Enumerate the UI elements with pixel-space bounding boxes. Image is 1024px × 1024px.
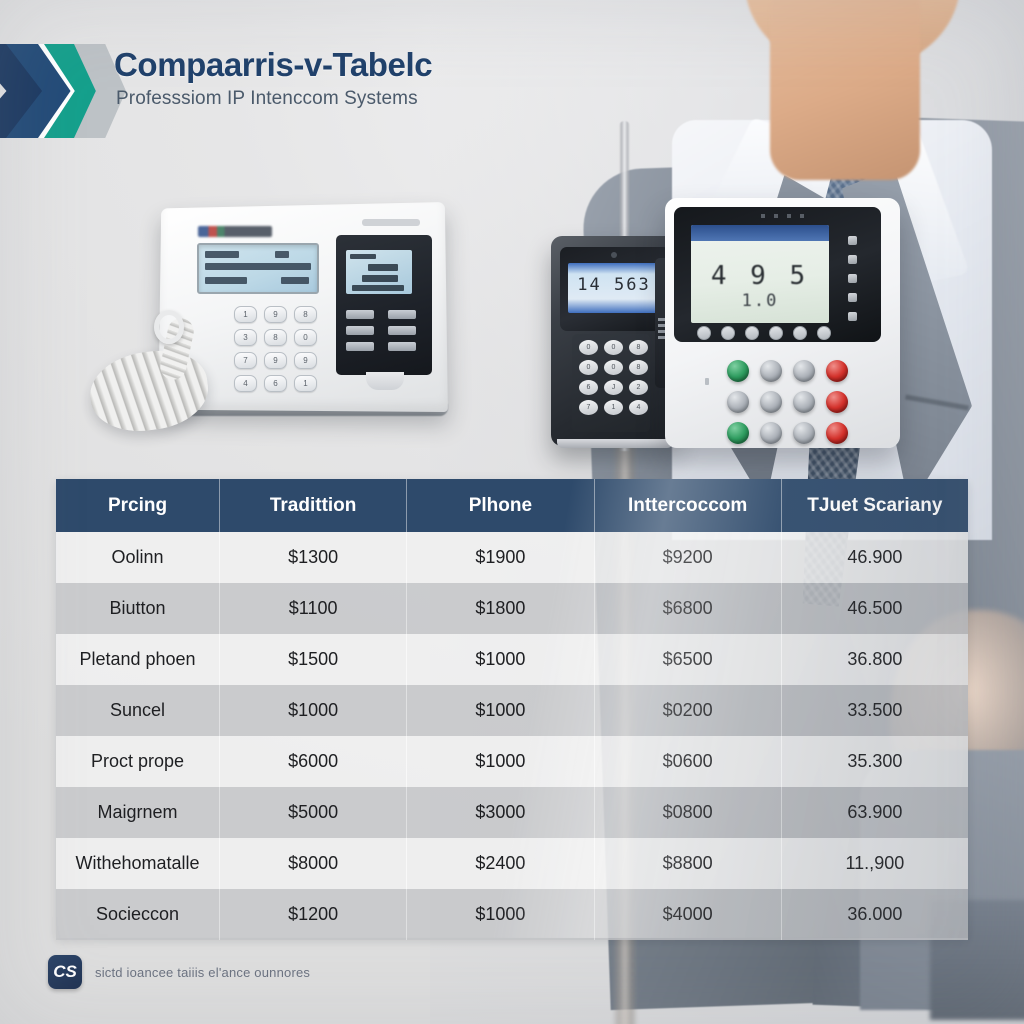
video-station-key[interactable] bbox=[793, 391, 815, 413]
table-row: Proct prope $6000 $1000 $0600 35.300 bbox=[56, 736, 968, 787]
wall-intercom-key[interactable]: 7 bbox=[579, 400, 598, 415]
row-value: $0800 bbox=[595, 787, 782, 838]
row-value: 35.300 bbox=[782, 736, 968, 787]
desk-phone-key[interactable]: 6 bbox=[264, 375, 287, 392]
device-white-desk-phone: 1 9 8 3 8 0 7 9 9 4 6 1 bbox=[84, 198, 452, 438]
row-value: $1000 bbox=[407, 736, 594, 787]
desk-phone-top-slot bbox=[362, 219, 420, 226]
row-label: Suncel bbox=[56, 685, 220, 736]
desk-phone-keypad[interactable]: 1 9 8 3 8 0 7 9 9 4 6 1 bbox=[234, 306, 317, 392]
desk-phone-side-button[interactable] bbox=[346, 342, 374, 351]
row-value: $0200 bbox=[595, 685, 782, 736]
desk-phone-key[interactable]: 9 bbox=[264, 306, 287, 323]
row-value: $1300 bbox=[220, 532, 407, 583]
row-value: $3000 bbox=[407, 787, 594, 838]
led-indicator-icon bbox=[848, 274, 857, 283]
video-station-softkey[interactable] bbox=[697, 326, 711, 340]
row-value: $1000 bbox=[407, 889, 594, 940]
row-value: 46.900 bbox=[782, 532, 968, 583]
speaker-grille-icon bbox=[761, 214, 813, 218]
desk-phone-notch bbox=[366, 372, 404, 390]
video-station-led-indicators bbox=[848, 236, 857, 321]
row-value: 63.900 bbox=[782, 787, 968, 838]
led-indicator-icon bbox=[848, 312, 857, 321]
desk-phone-key[interactable]: 0 bbox=[294, 329, 317, 346]
row-value: $6500 bbox=[595, 634, 782, 685]
video-station-softkey[interactable] bbox=[745, 326, 759, 340]
video-station-softkey[interactable] bbox=[817, 326, 831, 340]
table-row: Suncel $1000 $1000 $0200 33.500 bbox=[56, 685, 968, 736]
desk-phone-key[interactable]: 9 bbox=[264, 352, 287, 369]
wall-intercom-key[interactable]: 8 bbox=[629, 360, 648, 375]
wall-intercom-key[interactable]: 0 bbox=[579, 360, 598, 375]
row-label: Oolinn bbox=[56, 532, 220, 583]
desk-phone-key[interactable]: 4 bbox=[234, 375, 257, 392]
row-value: $0600 bbox=[595, 736, 782, 787]
column-header-scenario: TJuet Scariany bbox=[782, 479, 968, 532]
wall-intercom-key[interactable]: 2 bbox=[629, 380, 648, 395]
row-value: $1000 bbox=[220, 685, 407, 736]
table-row: Oolinn $1300 $1900 $9200 46.900 bbox=[56, 532, 968, 583]
desk-phone-side-button[interactable] bbox=[388, 326, 416, 335]
led-indicator-icon bbox=[848, 255, 857, 264]
wall-intercom-key[interactable]: J bbox=[604, 380, 623, 395]
video-station-display-sub: 1.0 bbox=[691, 291, 829, 311]
desk-phone-side-buttons[interactable] bbox=[346, 310, 416, 351]
video-station-softkey[interactable] bbox=[721, 326, 735, 340]
video-station-key-end[interactable] bbox=[826, 360, 848, 382]
row-value: $1100 bbox=[220, 583, 407, 634]
row-label: Biutton bbox=[56, 583, 220, 634]
device-white-video-station: 4 9 5 1.0 bbox=[665, 198, 900, 448]
cs-badge-icon: CS bbox=[48, 955, 82, 989]
video-station-key-call[interactable] bbox=[727, 422, 749, 444]
row-value: $6800 bbox=[595, 583, 782, 634]
comparison-table: Prcing Tradittion Plhone Inttercoccom TJ… bbox=[56, 479, 968, 938]
video-station-key[interactable] bbox=[793, 422, 815, 444]
row-value: $1500 bbox=[220, 634, 407, 685]
row-value: $5000 bbox=[220, 787, 407, 838]
row-value: 36.800 bbox=[782, 634, 968, 685]
video-station-lcd: 4 9 5 1.0 bbox=[691, 225, 829, 323]
handset-hook-icon bbox=[154, 310, 184, 344]
wall-intercom-keypad[interactable]: 0 0 8 0 0 8 6 J 2 7 1 4 bbox=[579, 340, 648, 415]
wall-intercom-key[interactable]: 1 bbox=[604, 400, 623, 415]
led-indicator-icon bbox=[848, 236, 857, 245]
row-value: $6000 bbox=[220, 736, 407, 787]
row-value: 46.500 bbox=[782, 583, 968, 634]
wall-intercom-key[interactable]: 4 bbox=[629, 400, 648, 415]
wall-intercom-key[interactable]: 0 bbox=[604, 360, 623, 375]
table-header-row: Prcing Tradittion Plhone Inttercoccom TJ… bbox=[56, 479, 968, 532]
lcd-title-bar bbox=[691, 225, 829, 241]
desk-phone-key[interactable]: 7 bbox=[234, 352, 257, 369]
column-header-traditional: Tradittion bbox=[220, 479, 407, 532]
table-row: Socieccon $1200 $1000 $4000 36.000 bbox=[56, 889, 968, 940]
table-row: Maigrnem $5000 $3000 $0800 63.900 bbox=[56, 787, 968, 838]
row-label: Pletand phoen bbox=[56, 634, 220, 685]
row-value: 33.500 bbox=[782, 685, 968, 736]
video-station-key-end[interactable] bbox=[826, 391, 848, 413]
desk-phone-side-button[interactable] bbox=[346, 310, 374, 319]
page-title: Compaarris-v-Tabelc bbox=[114, 46, 432, 84]
desk-phone-lcd bbox=[197, 243, 319, 294]
desk-phone-secondary-lcd bbox=[346, 250, 412, 294]
row-value: $9200 bbox=[595, 532, 782, 583]
video-station-key[interactable] bbox=[793, 360, 815, 382]
row-value: $1000 bbox=[407, 634, 594, 685]
desk-phone-brand-logo-icon bbox=[198, 226, 272, 237]
header-banner: Compaarris-v-Tabelc Professsiom IP Inten… bbox=[0, 44, 520, 138]
video-station-key-end[interactable] bbox=[826, 422, 848, 444]
desk-phone-side-button[interactable] bbox=[388, 342, 416, 351]
coiled-cord-icon bbox=[86, 345, 213, 437]
wall-intercom-base bbox=[557, 439, 673, 448]
camera-icon bbox=[611, 252, 617, 258]
footer-text: sictd ioancee taiiis el'ance ounnores bbox=[95, 965, 310, 980]
row-value: $1800 bbox=[407, 583, 594, 634]
wall-intercom-key[interactable]: 0 bbox=[579, 340, 598, 355]
footer: CS sictd ioancee taiiis el'ance ounnores bbox=[48, 955, 310, 989]
row-value: $1200 bbox=[220, 889, 407, 940]
video-station-key[interactable] bbox=[760, 360, 782, 382]
row-value: $2400 bbox=[407, 838, 594, 889]
column-header-intercom: Inttercoccom bbox=[595, 479, 782, 532]
neck bbox=[770, 0, 920, 180]
desk-phone-key[interactable]: 8 bbox=[294, 306, 317, 323]
poster-canvas: 1 9 8 3 8 0 7 9 9 4 6 1 14 563 0 0 bbox=[0, 0, 1024, 1024]
row-label: Maigrnem bbox=[56, 787, 220, 838]
video-station-keypad[interactable] bbox=[727, 360, 848, 444]
microphone-icon bbox=[705, 378, 709, 385]
video-station-key[interactable] bbox=[760, 391, 782, 413]
table-row: Pletand phoen $1500 $1000 $6500 36.800 bbox=[56, 634, 968, 685]
chevron-logo-icon bbox=[0, 44, 112, 138]
row-value: $4000 bbox=[595, 889, 782, 940]
video-station-key[interactable] bbox=[727, 391, 749, 413]
wall-intercom-display-value: 14 563 bbox=[568, 275, 660, 295]
desk-phone-key[interactable]: 1 bbox=[234, 306, 257, 323]
row-value: $1900 bbox=[407, 532, 594, 583]
video-station-display-main: 4 9 5 bbox=[691, 261, 829, 291]
column-header-phone: Plhone bbox=[407, 479, 594, 532]
wall-intercom-lcd: 14 563 bbox=[568, 263, 660, 313]
handset-with-coiled-cord bbox=[90, 318, 218, 434]
video-station-key-call[interactable] bbox=[727, 360, 749, 382]
led-indicator-icon bbox=[848, 293, 857, 302]
table-row: Biutton $1100 $1800 $6800 46.500 bbox=[56, 583, 968, 634]
row-label: Withehomatalle bbox=[56, 838, 220, 889]
row-label: Socieccon bbox=[56, 889, 220, 940]
video-station-key[interactable] bbox=[760, 422, 782, 444]
desk-phone-key[interactable]: 9 bbox=[294, 352, 317, 369]
video-station-softkey[interactable] bbox=[769, 326, 783, 340]
row-value: $8800 bbox=[595, 838, 782, 889]
wall-intercom-key[interactable]: 8 bbox=[629, 340, 648, 355]
row-value: $1000 bbox=[407, 685, 594, 736]
row-value: 36.000 bbox=[782, 889, 968, 940]
video-station-softkey[interactable] bbox=[793, 326, 807, 340]
page-subtitle: Professsiom IP Intenccom Systems bbox=[116, 88, 418, 110]
table-row: Withehomatalle $8000 $2400 $8800 11.,900 bbox=[56, 838, 968, 889]
row-value: $8000 bbox=[220, 838, 407, 889]
row-label: Proct prope bbox=[56, 736, 220, 787]
desk-phone-side-button[interactable] bbox=[346, 326, 374, 335]
wall-intercom-key[interactable]: 6 bbox=[579, 380, 598, 395]
wall-intercom-key[interactable]: 0 bbox=[604, 340, 623, 355]
column-header-pricing: Prcing bbox=[56, 479, 220, 532]
desk-phone-side-button[interactable] bbox=[388, 310, 416, 319]
video-station-softkeys[interactable] bbox=[697, 326, 831, 340]
video-station-edge-indicator-icon bbox=[658, 318, 665, 340]
desk-phone-key[interactable]: 3 bbox=[234, 329, 257, 346]
desk-phone-key[interactable]: 1 bbox=[294, 375, 317, 392]
row-value: 11.,900 bbox=[782, 838, 968, 889]
desk-phone-key[interactable]: 8 bbox=[264, 329, 287, 346]
